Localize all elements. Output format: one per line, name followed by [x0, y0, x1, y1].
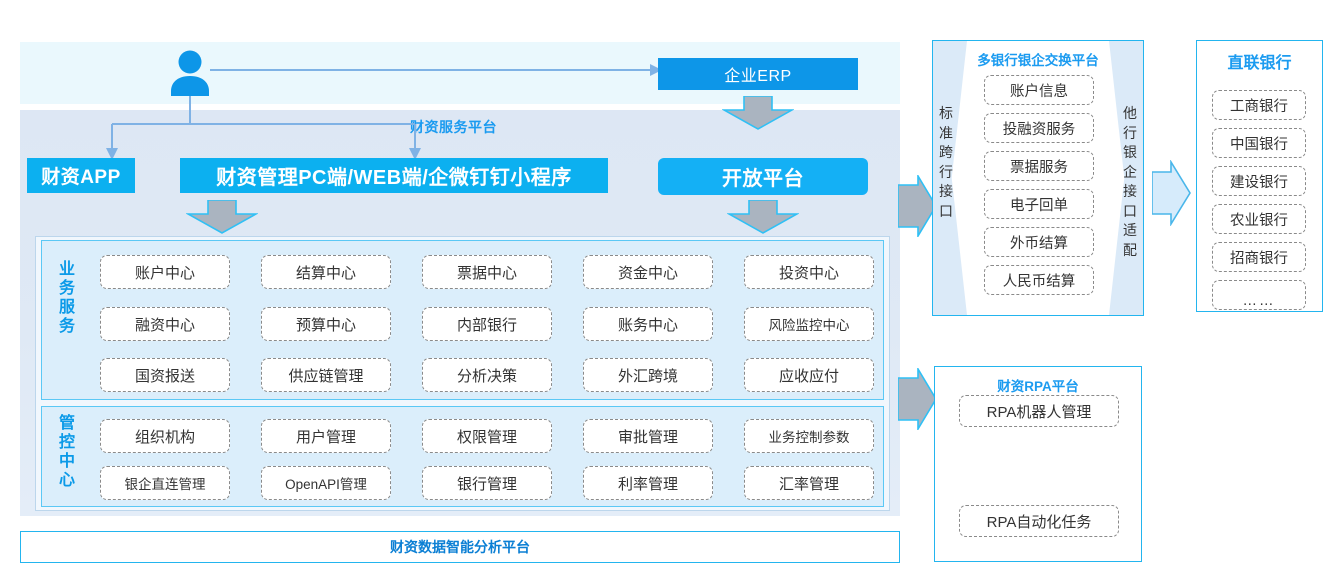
rpa-card[interactable]: RPA自动化任务 — [959, 505, 1119, 537]
arrow-down-erp-icon — [722, 96, 794, 130]
business-card[interactable]: 分析决策 — [422, 358, 552, 392]
channel-button-open-platform[interactable]: 开放平台 — [658, 158, 868, 195]
data-analytics-bar: 财资数据智能分析平台 — [20, 531, 900, 563]
business-card[interactable]: 账户中心 — [100, 255, 230, 289]
control-card[interactable]: 组织机构 — [100, 419, 230, 453]
business-card[interactable]: 国资报送 — [100, 358, 230, 392]
arrow-right-to-banks-icon — [1152, 160, 1192, 226]
business-card[interactable]: 结算中心 — [261, 255, 391, 289]
business-card[interactable]: 预算中心 — [261, 307, 391, 341]
business-card[interactable]: 融资中心 — [100, 307, 230, 341]
control-center-label: 管控中心 — [54, 414, 80, 490]
connector-user-branch-icon — [70, 96, 500, 162]
rpa-platform-panel-title: 财资RPA平台 — [935, 375, 1141, 395]
control-card[interactable]: 银企直连管理 — [100, 466, 230, 500]
control-card[interactable]: 汇率管理 — [744, 466, 874, 500]
exchange-card[interactable]: 投融资服务 — [984, 113, 1094, 143]
business-card[interactable]: 风险监控中心 — [744, 307, 874, 341]
enterprise-erp-button[interactable]: 企业ERP — [658, 58, 858, 90]
business-card[interactable]: 账务中心 — [583, 307, 713, 341]
control-card[interactable]: 利率管理 — [583, 466, 713, 500]
arrow-down-channels-icon — [186, 200, 258, 234]
direct-banks-panel-title: 直联银行 — [1197, 49, 1322, 73]
control-card[interactable]: OpenAPI管理 — [261, 466, 391, 500]
rpa-platform-panel: 财资RPA平台 RPA机器人管理RPA自动化任务 — [934, 366, 1142, 562]
arrow-down-open-platform-icon — [727, 200, 799, 234]
direct-bank-card[interactable]: 农业银行 — [1212, 204, 1306, 234]
rpa-card[interactable]: RPA机器人管理 — [959, 395, 1119, 427]
architecture-diagram: 企业ERP 财资服务平台 财资APP 财资管理PC端/WEB端/企微钉钉小程序 … — [0, 0, 1329, 580]
business-card[interactable]: 资金中心 — [583, 255, 713, 289]
other-bank-interface-adapter-label: 他行银企接口适配 — [1119, 104, 1141, 260]
bank-exchange-panel-title: 多银行银企交换平台 — [933, 49, 1143, 69]
direct-bank-card[interactable]: 工商银行 — [1212, 90, 1306, 120]
direct-bank-card[interactable]: 建设银行 — [1212, 166, 1306, 196]
control-card[interactable]: 权限管理 — [422, 419, 552, 453]
user-icon — [168, 50, 212, 96]
business-services-label: 业务服务 — [54, 260, 80, 336]
business-card[interactable]: 供应链管理 — [261, 358, 391, 392]
channel-button-pc-web[interactable]: 财资管理PC端/WEB端/企微钉钉小程序 — [180, 158, 608, 193]
control-card[interactable]: 审批管理 — [583, 419, 713, 453]
arrow-user-to-erp-icon — [210, 62, 662, 78]
channel-button-app[interactable]: 财资APP — [27, 158, 135, 193]
control-card[interactable]: 用户管理 — [261, 419, 391, 453]
direct-bank-card[interactable]: 招商银行 — [1212, 242, 1306, 272]
business-card[interactable]: 内部银行 — [422, 307, 552, 341]
exchange-card[interactable]: 票据服务 — [984, 151, 1094, 181]
business-card[interactable]: 应收应付 — [744, 358, 874, 392]
exchange-card[interactable]: 外币结算 — [984, 227, 1094, 257]
bank-exchange-panel: 多银行银企交换平台 账户信息投融资服务票据服务电子回单外币结算人民币结算 — [932, 40, 1144, 316]
direct-bank-card[interactable]: 中国银行 — [1212, 128, 1306, 158]
exchange-card[interactable]: 账户信息 — [984, 75, 1094, 105]
exchange-card[interactable]: 电子回单 — [984, 189, 1094, 219]
direct-bank-card[interactable]: …… — [1212, 280, 1306, 310]
control-card[interactable]: 银行管理 — [422, 466, 552, 500]
business-card[interactable]: 票据中心 — [422, 255, 552, 289]
arrow-right-to-rpa-icon — [898, 368, 938, 430]
business-card[interactable]: 外汇跨境 — [583, 358, 713, 392]
control-card[interactable]: 业务控制参数 — [744, 419, 874, 453]
standard-interbank-interface-label: 标准跨行接口 — [935, 104, 957, 221]
exchange-card[interactable]: 人民币结算 — [984, 265, 1094, 295]
business-card[interactable]: 投资中心 — [744, 255, 874, 289]
